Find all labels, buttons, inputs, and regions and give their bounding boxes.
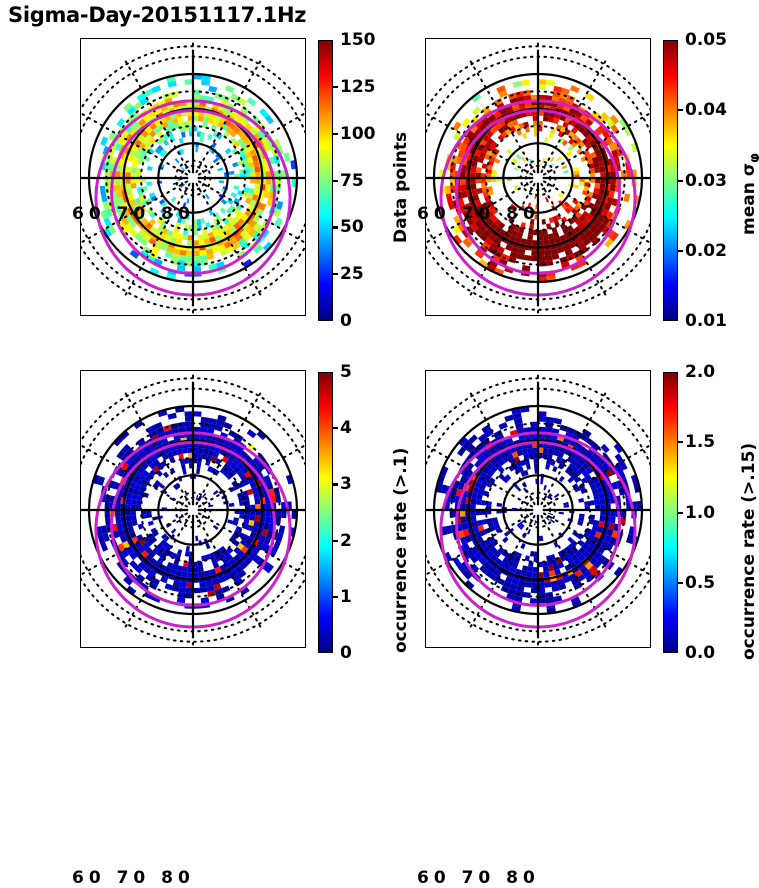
colorbar-tick-label: 5 — [340, 362, 352, 382]
colorbar-tick-label: 125 — [340, 77, 376, 97]
colorbar-tick-label: 0 — [340, 311, 352, 331]
colorbar-tick-label: 0.5 — [685, 573, 715, 593]
colorbar-tick-mark — [678, 441, 683, 443]
colorbar-title-data-points: Data points — [391, 132, 411, 243]
polar-plot-occurrence-rate-gt-0p15 — [425, 370, 651, 648]
colorbar-title-occurrence-rate-gt-0p1: occurrence rate (>.1) — [391, 448, 411, 653]
colorbar-tick-label: 1 — [340, 587, 352, 607]
panel-occurrence-rate-gt-0p1: 60 70 80 — [80, 370, 306, 648]
colorbar-tick-label: 0 — [340, 643, 352, 663]
panel-mean-sigma-phi: 60 70 80 — [425, 38, 651, 316]
colorbar-tick-mark — [333, 226, 338, 228]
colorbar-tick-label: 1.5 — [685, 432, 715, 452]
colorbar-tick-label: 2 — [340, 531, 352, 551]
colorbar-occurrence-rate-gt-0p15: 0.00.51.01.52.0 — [663, 372, 678, 653]
latitude-tick-labels: 60 70 80 — [72, 868, 195, 888]
colorbar-tick-mark — [333, 273, 338, 275]
figure-title: Sigma-Day-20151117.1Hz — [8, 3, 306, 27]
colorbar-tick-mark — [333, 596, 338, 598]
colorbar-tick-label: 3 — [340, 474, 352, 494]
polar-plot-mean-sigma-phi — [425, 38, 651, 316]
colorbar-tick-mark — [333, 483, 338, 485]
colorbar-tick-label: 50 — [340, 217, 364, 237]
colorbar-tick-label: 0.04 — [685, 100, 727, 120]
colorbar-ticks: 012345 — [318, 372, 333, 653]
colorbar-ticks: 0255075100125150 — [318, 40, 333, 321]
colorbar-tick-label: 0.05 — [685, 30, 727, 50]
polar-plot-occurrence-rate-gt-0p1 — [80, 370, 306, 648]
colorbar-data-points: 0255075100125150 — [318, 40, 333, 321]
colorbar-tick-mark — [333, 540, 338, 542]
colorbar-tick-mark — [678, 582, 683, 584]
panel-data-points: 60 70 80 — [80, 38, 306, 316]
colorbar-tick-mark — [678, 180, 683, 182]
colorbar-tick-label: 25 — [340, 264, 364, 284]
colorbar-ticks: 0.010.020.030.040.05 — [663, 40, 678, 321]
colorbar-tick-mark — [333, 427, 338, 429]
colorbar-tick-label: 150 — [340, 30, 376, 50]
colorbar-title-mean-sigma-phi: mean σφ — [739, 153, 759, 235]
colorbar-tick-label: 4 — [340, 418, 352, 438]
polar-plot-data-points — [80, 38, 306, 316]
colorbar-mean-sigma-phi: 0.010.020.030.040.05 — [663, 40, 678, 321]
colorbar-tick-label: 100 — [340, 124, 376, 144]
colorbar-tick-label: 75 — [340, 171, 364, 191]
colorbar-tick-label: 0.03 — [685, 171, 727, 191]
panel-occurrence-rate-gt-0p15: 60 70 80 — [425, 370, 651, 648]
figure-canvas: Sigma-Day-20151117.1Hz 60 70 80 02550751… — [0, 0, 759, 674]
colorbar-title-occurrence-rate-gt-0p15: occurrence rate (>.15) — [739, 443, 759, 660]
latitude-tick-labels: 60 70 80 — [417, 868, 540, 888]
colorbar-tick-label: 0.0 — [685, 643, 715, 663]
colorbar-tick-label: 1.0 — [685, 503, 715, 523]
colorbar-tick-label: 2.0 — [685, 362, 715, 382]
colorbar-tick-label: 0.02 — [685, 241, 727, 261]
colorbar-tick-mark — [678, 250, 683, 252]
sigma-subscript: φ — [747, 153, 759, 163]
colorbar-tick-mark — [333, 86, 338, 88]
colorbar-tick-mark — [333, 133, 338, 135]
colorbar-tick-mark — [333, 180, 338, 182]
colorbar-tick-label: 0.01 — [685, 311, 727, 331]
colorbar-occurrence-rate-gt-0p1: 012345 — [318, 372, 333, 653]
colorbar-tick-mark — [678, 512, 683, 514]
colorbar-tick-mark — [678, 109, 683, 111]
colorbar-ticks: 0.00.51.01.52.0 — [663, 372, 678, 653]
